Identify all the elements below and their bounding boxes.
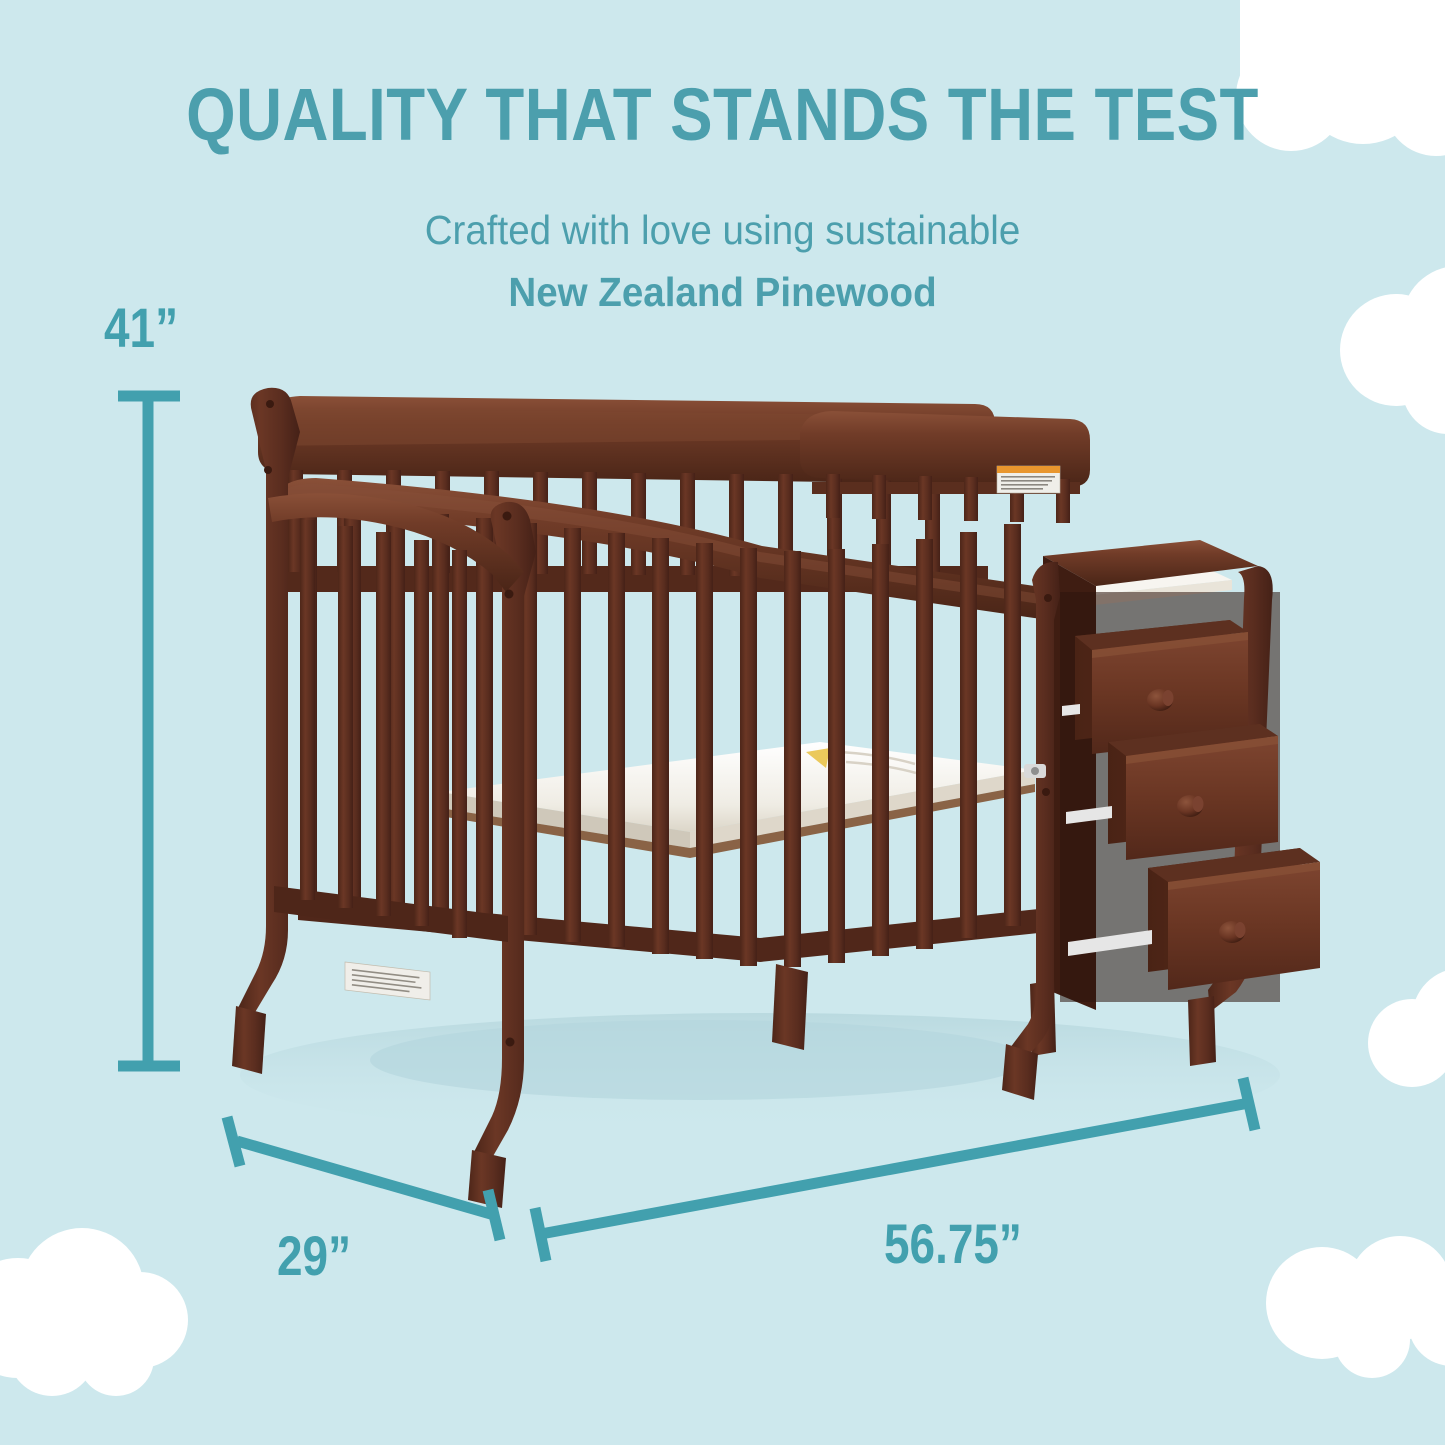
subtitle-line-1: Crafted with love using sustainable [43,210,1401,251]
subtitle-line-2: New Zealand Pinewood [43,272,1401,313]
text-overlay: QUALITY THAT STANDS THE TEST Crafted wit… [0,0,1445,1445]
infographic-canvas: QUALITY THAT STANDS THE TEST Crafted wit… [0,0,1445,1445]
dimension-label-width: 56.75” [884,1216,1022,1272]
dimension-label-depth: 29” [277,1228,351,1284]
dimension-label-height: 41” [104,300,178,356]
page-title: QUALITY THAT STANDS THE TEST [101,78,1344,152]
